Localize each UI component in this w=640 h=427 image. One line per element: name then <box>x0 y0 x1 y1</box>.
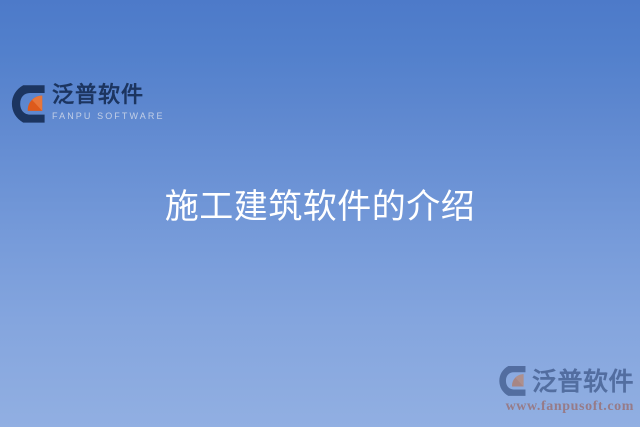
fanpu-logo-mark-icon <box>11 84 47 124</box>
brand-text: 泛普软件 FANPU SOFTWARE <box>52 83 165 122</box>
watermark-name-cn: 泛普软件 <box>532 367 634 396</box>
brand-logo: 泛普软件 FANPU SOFTWARE <box>11 83 165 124</box>
brand-name-en: FANPU SOFTWARE <box>52 111 165 122</box>
watermark: 泛普软件 www.fanpusoft.com <box>482 365 634 415</box>
brand-name-cn: 泛普软件 <box>52 83 165 108</box>
fanpu-logo-mark-icon <box>498 365 528 397</box>
presentation-slide: 泛普软件 FANPU SOFTWARE 施工建筑软件的介绍 泛普软件 www.f… <box>0 0 640 427</box>
watermark-url: www.fanpusoft.com <box>482 398 634 415</box>
watermark-logo-row: 泛普软件 <box>482 365 634 397</box>
slide-title: 施工建筑软件的介绍 <box>0 184 640 230</box>
